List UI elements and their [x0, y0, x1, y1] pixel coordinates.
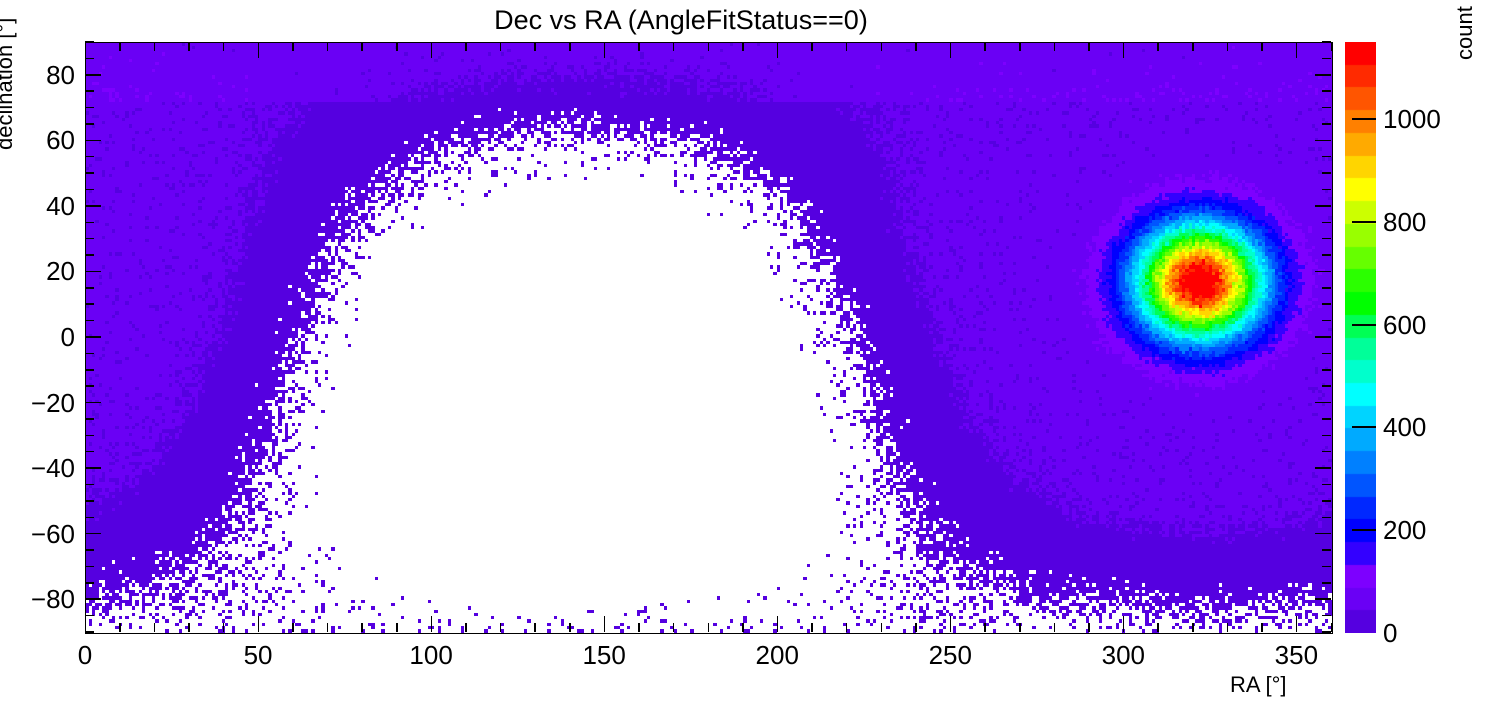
x-tick-label-350: 350	[1275, 642, 1318, 668]
colorbar	[1345, 42, 1376, 633]
chart-page: Dec vs RA (AngleFitStatus==0) declinatio…	[0, 0, 1496, 722]
y-tick-label-0: 0	[61, 324, 75, 350]
y-tick-label--40: −40	[31, 455, 75, 481]
y-tick-label--80: −80	[31, 586, 75, 612]
y-tick-label-20: 20	[46, 258, 75, 284]
y-tick-label--20: −20	[31, 390, 75, 416]
x-tick-label-0: 0	[78, 642, 92, 668]
colorbar-tick-label-200: 200	[1383, 517, 1426, 543]
colorbar-tick-label-0: 0	[1383, 620, 1397, 646]
y-tick-label-60: 60	[46, 127, 75, 153]
page-title: Dec vs RA (AngleFitStatus==0)	[0, 4, 1362, 36]
x-axis-title: RA [°]	[1230, 672, 1286, 698]
x-tick-label-200: 200	[756, 642, 799, 668]
y-tick-label--60: −60	[31, 521, 75, 547]
colorbar-canvas	[1345, 42, 1376, 633]
colorbar-tick-label-800: 800	[1383, 209, 1426, 235]
colorbar-tick-label-1000: 1000	[1383, 106, 1441, 132]
y-tick-label-80: 80	[46, 62, 75, 88]
x-tick-label-300: 300	[1102, 642, 1145, 668]
colorbar-tick-label-400: 400	[1383, 414, 1426, 440]
x-tick-label-150: 150	[582, 642, 625, 668]
x-tick-label-50: 50	[244, 642, 273, 668]
x-tick-label-100: 100	[409, 642, 452, 668]
y-axis-title: declination [°]	[0, 0, 18, 150]
colorbar-title: count	[1452, 0, 1478, 60]
colorbar-tick-label-600: 600	[1383, 312, 1426, 338]
y-tick-label-40: 40	[46, 193, 75, 219]
x-tick-label-250: 250	[929, 642, 972, 668]
plot-frame	[85, 42, 1333, 634]
heatmap-canvas	[86, 43, 1332, 633]
